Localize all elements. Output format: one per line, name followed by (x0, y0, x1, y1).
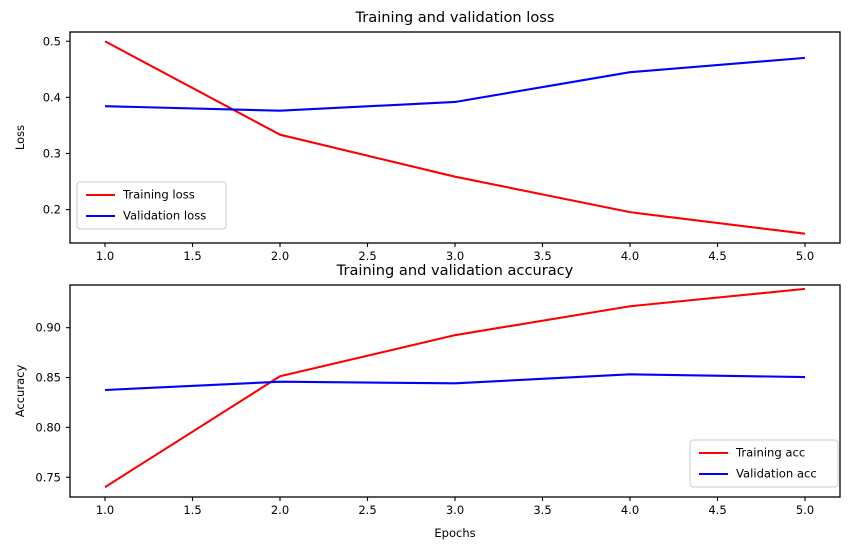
legend-label: Validation loss (123, 209, 206, 223)
legend-1: Training lossValidation loss (77, 182, 226, 229)
y-tick-label: 0.4 (43, 90, 61, 104)
x-tick-label: 2.0 (271, 249, 289, 263)
x-tick-label: 1.0 (96, 249, 114, 263)
x-tick-label: 2.0 (271, 503, 289, 517)
legend-2: Training accValidation acc (690, 440, 838, 487)
axes-2: Training and validation accuracy1.01.52.… (13, 262, 840, 540)
x-tick-label: 2.5 (358, 503, 376, 517)
x-tick-label: 4.5 (708, 503, 726, 517)
chart-title-1: Training and validation loss (355, 9, 555, 26)
axes-1: Training and validation loss1.01.52.02.5… (13, 9, 840, 263)
y-axis-label: Loss (13, 125, 27, 150)
x-tick-label: 5.0 (796, 503, 814, 517)
x-tick-label: 1.5 (183, 503, 201, 517)
x-tick-label: 3.5 (533, 503, 551, 517)
x-tick-label: 3.0 (446, 249, 464, 263)
figure-canvas: Training and validation loss1.01.52.02.5… (0, 0, 855, 547)
chart-title-2: Training and validation accuracy (336, 262, 574, 279)
legend-label: Training acc (735, 446, 805, 460)
x-tick-label: 5.0 (796, 249, 814, 263)
x-axis-label: Epochs (434, 526, 475, 540)
y-axis-label: Accuracy (13, 365, 27, 418)
y-tick-label: 0.90 (35, 321, 61, 335)
y-tick-label: 0.80 (35, 420, 61, 434)
x-tick-label: 3.0 (446, 503, 464, 517)
x-tick-label: 4.0 (621, 503, 639, 517)
y-tick-label: 0.2 (43, 203, 61, 217)
x-tick-label: 4.5 (708, 249, 726, 263)
y-tick-label: 0.75 (35, 470, 61, 484)
y-tick-label: 0.3 (43, 146, 61, 160)
x-tick-label: 1.5 (183, 249, 201, 263)
y-tick-label: 0.85 (35, 371, 61, 385)
x-tick-label: 4.0 (621, 249, 639, 263)
legend-label: Training loss (122, 188, 195, 202)
x-tick-label: 1.0 (96, 503, 114, 517)
y-tick-label: 0.5 (43, 34, 61, 48)
legend-label: Validation acc (736, 467, 817, 481)
x-tick-label: 2.5 (358, 249, 376, 263)
matplotlib-figure: Training and validation loss1.01.52.02.5… (0, 0, 855, 547)
x-tick-label: 3.5 (533, 249, 551, 263)
